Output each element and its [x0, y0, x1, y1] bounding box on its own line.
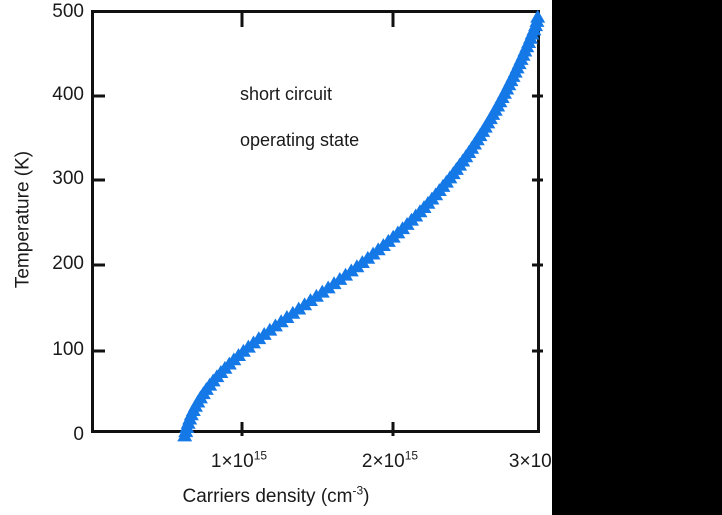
figure-canvas: Temperature (K) 500 400 300 200 100 0 1×… [0, 0, 552, 515]
data-marker [461, 145, 476, 158]
right-black-panel [552, 0, 722, 515]
plot-annotation: short circuit operating state [240, 60, 359, 175]
data-marker [217, 361, 232, 374]
x-tick-3e15-mantissa: 3×10 [509, 451, 552, 472]
data-marker [196, 386, 211, 399]
data-marker [488, 103, 503, 116]
data-marker [503, 73, 518, 86]
data-marker [381, 234, 396, 247]
data-marker [516, 48, 531, 61]
data-marker [525, 27, 540, 40]
data-marker [279, 310, 294, 323]
data-marker [480, 115, 495, 128]
data-marker [467, 137, 482, 150]
data-marker [371, 242, 386, 255]
data-marker [455, 154, 470, 167]
plot-frame: short circuit operating state [91, 10, 540, 433]
x-axis-title: Carriers density (cm-3) [0, 487, 552, 506]
data-marker [190, 395, 205, 408]
data-marker [315, 285, 330, 298]
data-marker [182, 412, 197, 425]
data-marker [386, 230, 401, 243]
data-marker [268, 319, 283, 332]
x-axis-title-exponent: -3 [352, 484, 363, 498]
data-marker [492, 94, 507, 107]
data-marker [506, 69, 521, 82]
data-marker [241, 340, 256, 353]
data-marker [408, 209, 423, 222]
data-marker [495, 90, 510, 103]
data-marker [186, 403, 201, 416]
x-axis-title-base: Carriers density (cm [183, 486, 353, 507]
data-marker [395, 221, 410, 234]
data-marker [366, 247, 381, 260]
x-axis-title-tail: ) [363, 486, 369, 507]
data-marker [332, 272, 347, 285]
data-marker [193, 390, 208, 403]
series-0 [177, 10, 545, 442]
data-marker [327, 276, 342, 289]
x-tick-marks-top [242, 13, 393, 27]
data-marker [497, 86, 512, 99]
data-marker [478, 120, 493, 133]
data-marker [449, 162, 464, 175]
data-marker [236, 344, 251, 357]
data-marker [432, 183, 447, 196]
data-marker [257, 327, 272, 340]
data-marker [501, 77, 516, 90]
x-tick-label-1e15: 1×1015 [211, 452, 267, 471]
data-marker [446, 166, 461, 179]
data-marker [523, 31, 538, 44]
data-marker [231, 348, 246, 361]
data-marker [199, 382, 214, 395]
data-marker [400, 217, 415, 230]
y-tick-marks [94, 96, 105, 351]
data-marker [209, 369, 224, 382]
data-marker [428, 187, 443, 200]
data-marker [179, 420, 194, 433]
data-marker [442, 170, 457, 183]
data-marker [213, 365, 228, 378]
annotation-line-1: short circuit [240, 83, 359, 106]
data-marker [475, 124, 490, 137]
data-marker [344, 264, 359, 277]
data-marker [297, 297, 312, 310]
data-marker [458, 149, 473, 162]
data-marker [338, 268, 353, 281]
data-marker [262, 323, 277, 336]
data-marker [420, 196, 435, 209]
data-marker [222, 357, 237, 370]
data-marker [483, 111, 498, 124]
data-marker [226, 352, 241, 365]
data-marker [464, 141, 479, 154]
data-marker [517, 44, 532, 57]
data-marker [490, 99, 505, 112]
data-marker [202, 378, 217, 391]
x-tick-1e15-mantissa: 1×10 [211, 451, 254, 472]
data-marker [499, 82, 514, 95]
data-marker [349, 259, 364, 272]
data-marker [526, 22, 541, 35]
x-tick-label-2e15: 2×1015 [362, 452, 418, 471]
data-marker [181, 416, 196, 429]
data-marker [285, 306, 300, 319]
data-marker [519, 39, 534, 52]
data-marker [360, 251, 375, 264]
data-marker [376, 238, 391, 251]
data-marker [424, 192, 439, 205]
data-marker [514, 52, 529, 65]
data-marker [435, 179, 450, 192]
data-marker [291, 302, 306, 315]
data-marker [246, 335, 261, 348]
screenshot-root: Temperature (K) 500 400 300 200 100 0 1×… [0, 0, 722, 515]
x-tick-2e15-mantissa: 2×10 [362, 451, 405, 472]
data-marker [274, 314, 289, 327]
data-marker [452, 158, 467, 171]
data-marker [251, 331, 266, 344]
data-marker [188, 399, 203, 412]
data-marker [521, 35, 536, 48]
data-marker [472, 128, 487, 141]
data-marker [390, 225, 405, 238]
data-marker [508, 65, 523, 78]
annotation-line-2: operating state [240, 129, 359, 152]
data-marker [404, 213, 419, 226]
data-marker [309, 289, 324, 302]
data-marker [470, 132, 485, 145]
data-marker [184, 407, 199, 420]
data-marker [485, 107, 500, 120]
data-marker [321, 280, 336, 293]
data-marker [439, 175, 454, 188]
data-marker [512, 56, 527, 69]
data-marker [206, 374, 221, 387]
data-marker [355, 255, 370, 268]
x-tick-1e15-exponent: 15 [254, 449, 267, 463]
data-marker [417, 200, 432, 213]
data-marker [510, 60, 525, 73]
data-marker [303, 293, 318, 306]
data-marker [412, 204, 427, 217]
x-tick-2e15-exponent: 15 [405, 449, 418, 463]
